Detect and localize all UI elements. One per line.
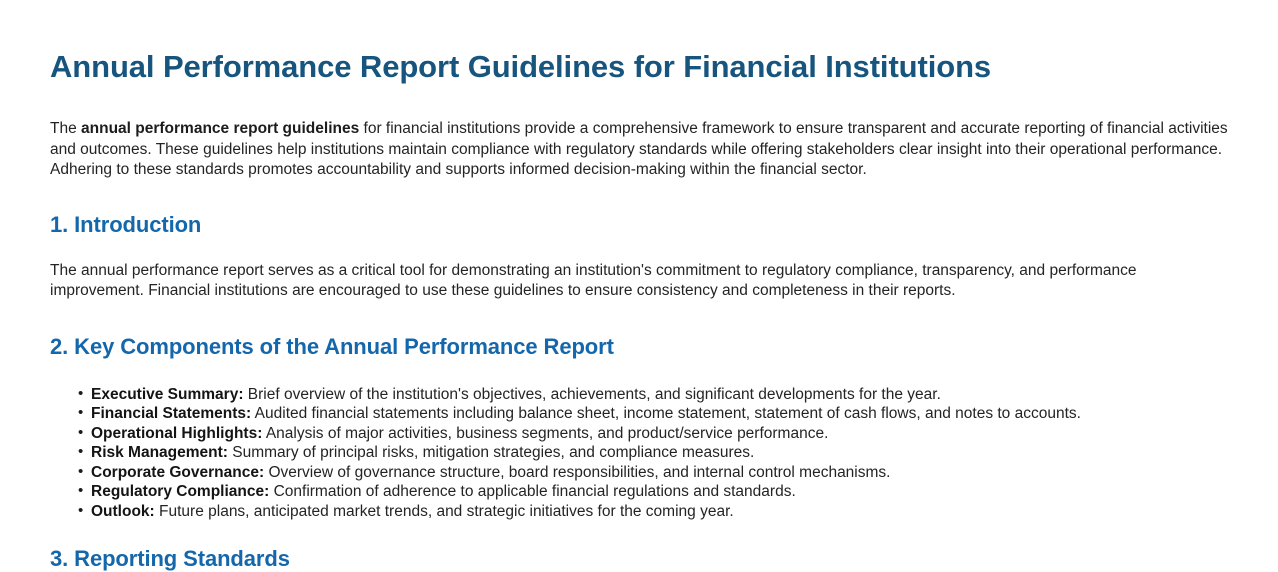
document-page: Annual Performance Report Guidelines for…: [0, 0, 1278, 572]
intro-lead-bold: annual performance report guidelines: [81, 120, 359, 137]
section-heading-reporting-standards: 3. Reporting Standards: [50, 522, 1228, 572]
intro-paragraph: The annual performance report guidelines…: [50, 85, 1228, 181]
list-item: Operational Highlights: Analysis of majo…: [91, 424, 1228, 444]
key-components-list: Executive Summary: Brief overview of the…: [50, 360, 1228, 522]
list-item: Corporate Governance: Overview of govern…: [91, 463, 1228, 483]
list-item: Regulatory Compliance: Confirmation of a…: [91, 482, 1228, 502]
list-item: Financial Statements: Audited financial …: [91, 404, 1228, 424]
list-item-description: Future plans, anticipated market trends,…: [155, 503, 734, 520]
list-item-term: Regulatory Compliance:: [91, 483, 269, 500]
list-item-description: Analysis of major activities, business s…: [262, 425, 828, 442]
list-item-term: Executive Summary:: [91, 386, 244, 403]
section-heading-key-components: 2. Key Components of the Annual Performa…: [50, 302, 1228, 360]
list-item: Executive Summary: Brief overview of the…: [91, 385, 1228, 405]
list-item-description: Confirmation of adherence to applicable …: [269, 483, 795, 500]
list-item-term: Operational Highlights:: [91, 425, 262, 442]
list-item-term: Financial Statements:: [91, 405, 251, 422]
intro-lead-prefix: The: [50, 120, 81, 137]
list-item: Outlook: Future plans, anticipated marke…: [91, 502, 1228, 522]
list-item-term: Risk Management:: [91, 444, 228, 461]
list-item-description: Brief overview of the institution's obje…: [244, 386, 941, 403]
list-item-description: Summary of principal risks, mitigation s…: [228, 444, 754, 461]
list-item-description: Overview of governance structure, board …: [264, 464, 890, 481]
list-item-description: Audited financial statements including b…: [251, 405, 1081, 422]
list-item-term: Outlook:: [91, 503, 155, 520]
list-item: Risk Management: Summary of principal ri…: [91, 443, 1228, 463]
section-introduction-body: The annual performance report serves as …: [50, 238, 1228, 302]
section-heading-introduction: 1. Introduction: [50, 181, 1228, 238]
list-item-term: Corporate Governance:: [91, 464, 264, 481]
page-title: Annual Performance Report Guidelines for…: [50, 0, 1228, 85]
